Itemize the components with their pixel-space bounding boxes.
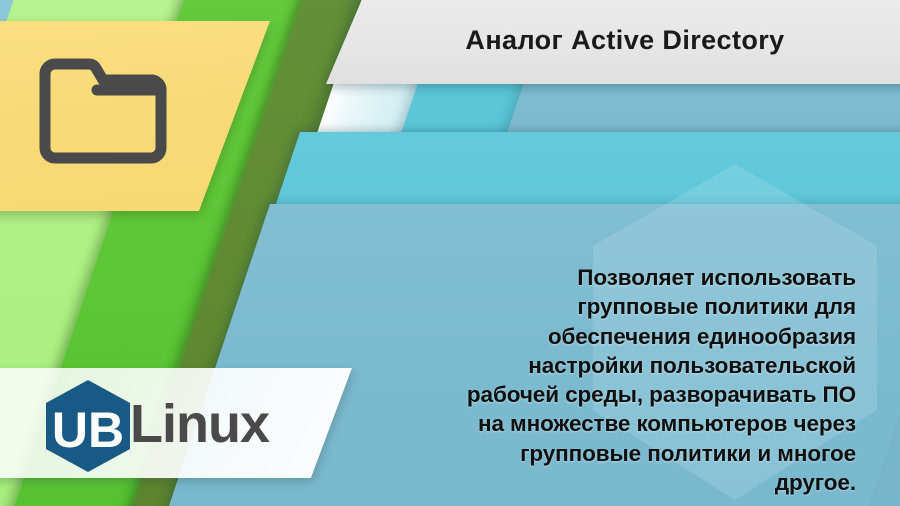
- page-title-wrap: Аналог Active Directory: [350, 0, 900, 84]
- body-paragraph: Позволяет использовать групповые политик…: [452, 263, 856, 497]
- brand-logo: UB Linux: [42, 378, 269, 474]
- page-title: Аналог Active Directory: [465, 25, 784, 56]
- logo-wordmark: Linux: [130, 397, 269, 455]
- logo-mark-text: UB: [52, 402, 124, 458]
- folder-icon: [33, 48, 175, 168]
- slide-canvas: Аналог Active Directory UB Linux Позволя…: [0, 0, 900, 506]
- hexagon-ub-logo-icon: UB: [42, 378, 134, 474]
